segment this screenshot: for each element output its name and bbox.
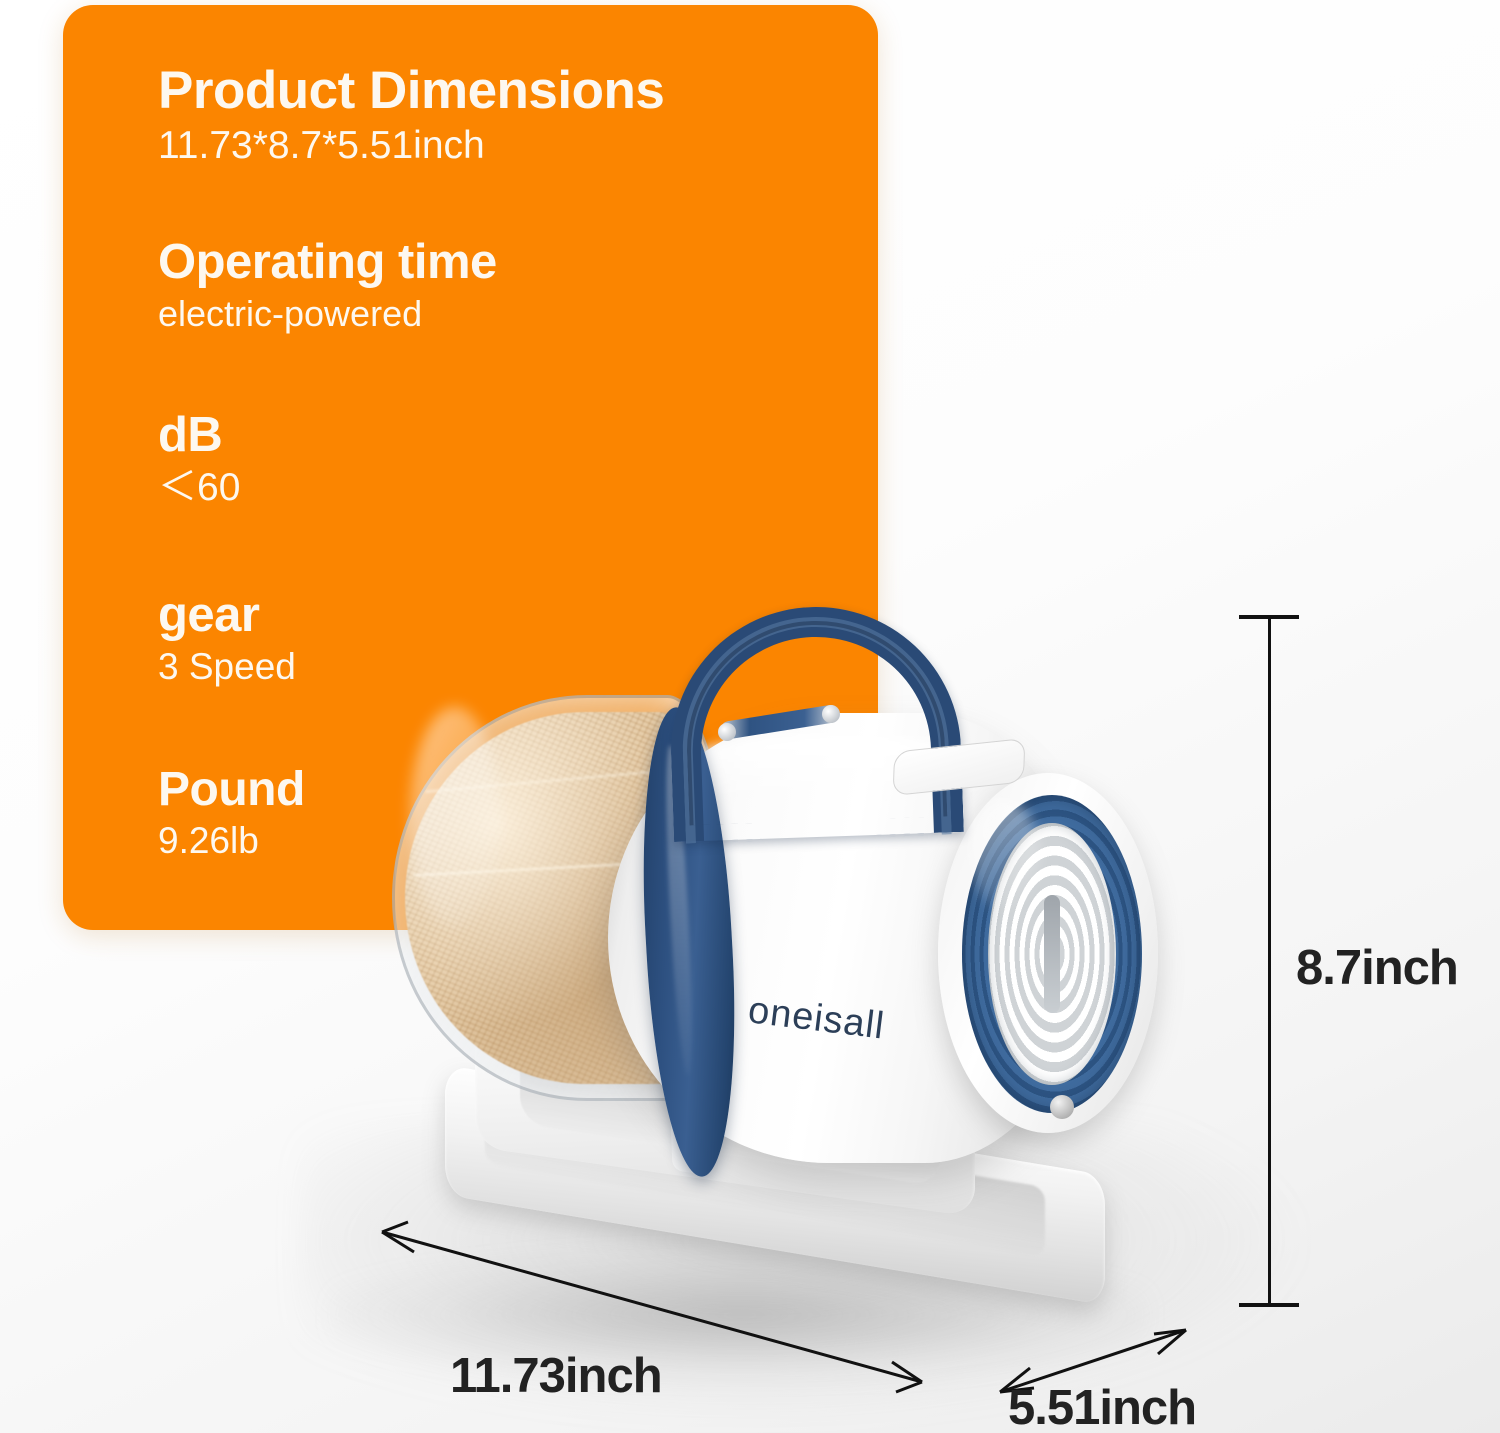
- spec-value: 11.73*8.7*5.51inch: [158, 125, 664, 168]
- spec-title: dB: [158, 410, 240, 461]
- spec-item-db: dB ＜60: [158, 410, 240, 510]
- spec-title: Pound: [158, 765, 305, 815]
- spec-item-product-dimensions: Product Dimensions 11.73*8.7*5.51inch: [158, 63, 664, 168]
- spec-item-gear: gear 3 Speed: [158, 590, 296, 688]
- height-dim-tick-bottom: [1239, 1303, 1299, 1307]
- width-dim-label: 11.73inch: [450, 1348, 662, 1404]
- product-image: oneisall: [370, 595, 1200, 1335]
- spec-title: Product Dimensions: [158, 63, 664, 119]
- spec-value: electric-powered: [158, 294, 497, 334]
- svg-text:oneisall: oneisall: [746, 989, 887, 1040]
- height-dim-line: [1268, 617, 1271, 1305]
- dome-highlight: [410, 707, 500, 927]
- spec-item-pound: Pound 9.26lb: [158, 765, 305, 862]
- infographic-canvas: Product Dimensions 11.73*8.7*5.51inch Op…: [0, 0, 1500, 1433]
- handle-hinge-screw: [822, 705, 840, 723]
- product-port: [1050, 1095, 1074, 1119]
- vent-highlight: [970, 800, 1040, 910]
- spec-value: ＜60: [158, 467, 240, 510]
- spec-item-operating-time: Operating time electric-powered: [158, 237, 497, 334]
- brand-logo: oneisall: [745, 980, 935, 1040]
- spec-title: Operating time: [158, 237, 497, 288]
- depth-dim-label: 5.51inch: [1008, 1380, 1196, 1433]
- spec-value: 3 Speed: [158, 647, 296, 688]
- spec-value: 9.26lb: [158, 821, 305, 862]
- product-vent-center-slot: [1044, 895, 1060, 1013]
- handle-hinge-screw: [718, 723, 736, 741]
- height-dim-label: 8.7inch: [1296, 940, 1458, 996]
- spec-title: gear: [158, 590, 296, 641]
